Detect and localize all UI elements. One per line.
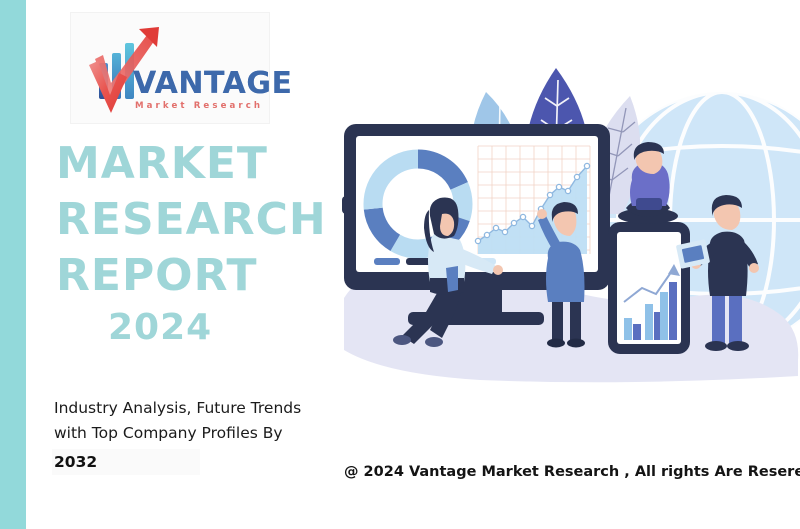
subtitle-block: Industry Analysis, Future Trends with To…: [54, 396, 354, 475]
headline-year: 2024: [108, 304, 356, 352]
copyright-footer: @ 2024 Vantage Market Research , All rig…: [344, 464, 800, 480]
logo-container: VANTAGE Market Research: [70, 12, 270, 124]
smartphone-bar-chart: [608, 222, 690, 354]
logo-tagline-text: Market Research: [135, 101, 273, 111]
logo-wordmark: VANTAGE Market Research: [133, 69, 273, 111]
illustration-container: [330, 30, 800, 390]
logo-brand-text: VANTAGE: [133, 69, 273, 99]
subtitle-line-2: with Top Company Profiles By: [54, 421, 354, 446]
headline-line-2: RESEARCH: [56, 192, 356, 248]
area-line-chart: [475, 146, 590, 254]
page-title: MARKET RESEARCH REPORT 2024: [56, 136, 356, 352]
left-accent-stripe: [0, 0, 26, 529]
headline-line-3: REPORT: [56, 248, 356, 304]
poster-canvas: VANTAGE Market Research MARKET RESEARCH …: [0, 0, 800, 529]
subtitle-year: 2032: [54, 450, 354, 475]
headline-line-1: MARKET: [56, 136, 356, 192]
subtitle-line-1: Industry Analysis, Future Trends: [54, 396, 354, 421]
